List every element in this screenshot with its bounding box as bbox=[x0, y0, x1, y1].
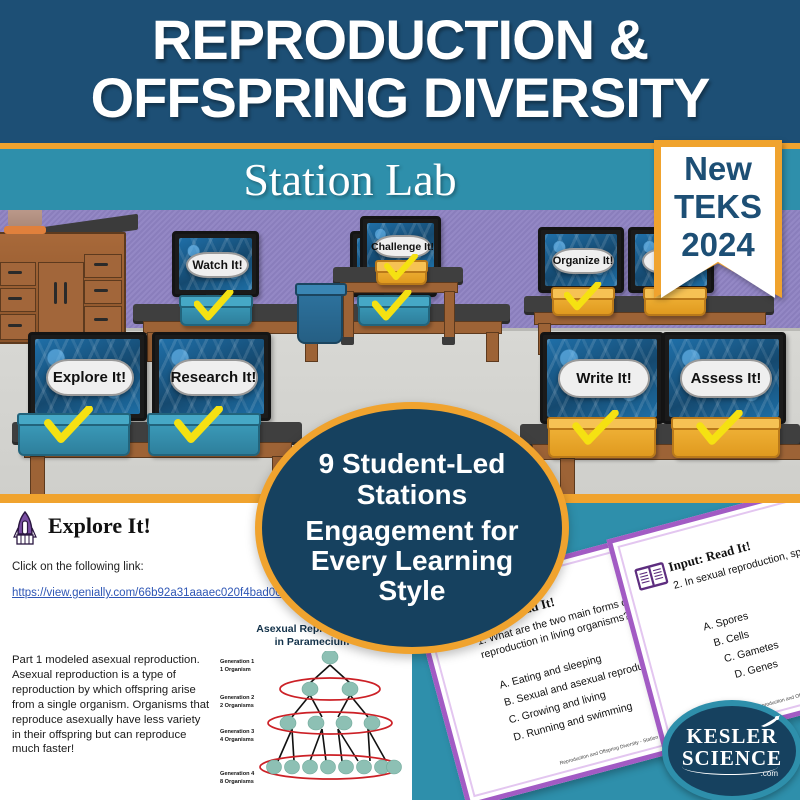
monitor-screen: Assess It! bbox=[669, 339, 779, 417]
station-label-plaque: Explore It! bbox=[46, 359, 134, 396]
kesler-science-logo: KESLER SCIENCE .com bbox=[662, 700, 800, 800]
logo-tld: .com bbox=[761, 769, 778, 778]
station-label-plaque: Assess It! bbox=[680, 359, 772, 397]
station-label: Research It! bbox=[171, 369, 257, 386]
cabinet-handle-5 bbox=[64, 282, 67, 304]
generation-label-4: Generation 4 8 Organisms bbox=[220, 771, 254, 786]
page-title-line1: REPRODUCTION & bbox=[0, 12, 800, 68]
monitor-screen: Write It! bbox=[547, 339, 657, 417]
desk-back-left-leg-3 bbox=[486, 332, 499, 362]
cabinet-drawer-1 bbox=[0, 262, 36, 286]
worksheet-body-text: Part 1 modeled asexual reproduction. Ase… bbox=[12, 653, 212, 757]
worksheet-heading: Explore It! bbox=[48, 513, 151, 539]
check-icon bbox=[384, 254, 418, 284]
trash-can-lip bbox=[295, 283, 347, 296]
station-label: Assess It! bbox=[691, 370, 762, 387]
cabinet-drawer-4 bbox=[84, 254, 122, 278]
ribbon-line3: 2024 bbox=[654, 226, 782, 264]
cabinet bbox=[0, 232, 126, 344]
check-icon bbox=[572, 410, 620, 450]
station-label: Organize It! bbox=[553, 255, 614, 267]
station-label: Write It! bbox=[576, 370, 632, 387]
desk-front-right-leg-1 bbox=[560, 458, 575, 496]
cabinet-drawer-2 bbox=[0, 288, 36, 312]
check-icon bbox=[44, 406, 94, 448]
cabinet-drawer-5 bbox=[84, 280, 122, 304]
book-icon bbox=[634, 561, 669, 592]
genially-link[interactable]: https://view.genially.com/66b92a31aaaec0… bbox=[12, 587, 288, 599]
desk-front-left-leg-1 bbox=[30, 456, 45, 496]
generation-label-3: Generation 3 4 Organisms bbox=[220, 729, 254, 744]
feature-badge: 9 Student-Led Stations Engagement for Ev… bbox=[255, 402, 569, 654]
title-block: REPRODUCTION & OFFSPRING DIVERSITY bbox=[0, 0, 800, 147]
monitor-screen: Organize It! bbox=[545, 234, 617, 286]
cabinet-handle-1 bbox=[8, 271, 22, 274]
monitor-screen: Explore It! bbox=[35, 339, 140, 414]
badge-line-1: 9 Student-Led Stations bbox=[262, 449, 562, 509]
subtitle: Station Lab bbox=[0, 150, 700, 210]
trash-can bbox=[297, 286, 343, 344]
page-title-line2: OFFSPRING DIVERSITY bbox=[0, 70, 800, 126]
check-icon bbox=[696, 410, 744, 450]
cabinet-door-left bbox=[38, 262, 84, 340]
badge-line-2: Engagement for Every Learning Style bbox=[262, 510, 562, 607]
cabinet-handle-8 bbox=[94, 318, 108, 321]
cabinet-handle-7 bbox=[94, 289, 108, 292]
station-monitor-watch-it: Watch It! bbox=[172, 231, 259, 297]
worksheet-instruction: Click on the following link: bbox=[12, 561, 144, 573]
cabinet-handle-4 bbox=[54, 282, 57, 304]
new-teks-ribbon: New TEKS 2024 bbox=[654, 140, 782, 298]
desk-center-foot-2 bbox=[442, 337, 455, 345]
station-label: Challenge It! bbox=[371, 241, 434, 253]
cabinet-handle-3 bbox=[8, 324, 22, 327]
card-footer: Reproduction and Offspring Diversity - S… bbox=[559, 732, 668, 767]
monitor-screen: Research It! bbox=[159, 339, 264, 414]
monitor-screen: Watch It! bbox=[179, 238, 252, 290]
check-icon bbox=[194, 290, 234, 324]
ribbon-line1: New bbox=[654, 150, 782, 188]
check-icon bbox=[372, 290, 412, 324]
station-label-plaque: Watch It! bbox=[186, 252, 248, 279]
station-label-plaque: Organize It! bbox=[552, 248, 614, 275]
desk-center-leg-1 bbox=[343, 291, 354, 341]
station-label-plaque: Research It! bbox=[170, 359, 258, 396]
station-label: Watch It! bbox=[192, 258, 242, 272]
station-label: Explore It! bbox=[53, 369, 126, 386]
ribbon-line2: TEKS bbox=[654, 188, 782, 226]
product-cover: REPRODUCTION & OFFSPRING DIVERSITY Stati… bbox=[0, 0, 800, 800]
rocket-icon bbox=[12, 511, 38, 547]
desk-center-leg-2 bbox=[444, 291, 455, 341]
check-icon bbox=[564, 282, 602, 314]
plant-pot-rim bbox=[4, 226, 46, 234]
generation-label-2: Generation 2 2 Organisms bbox=[220, 695, 254, 710]
desk-center-foot-1 bbox=[341, 337, 354, 345]
generation-label-1: Generation 1 1 Organism bbox=[220, 659, 254, 674]
station-label-plaque: Write It! bbox=[558, 359, 650, 397]
cabinet-handle-6 bbox=[94, 263, 108, 266]
check-icon bbox=[174, 406, 224, 448]
diagram-graph bbox=[258, 651, 402, 799]
cabinet-handle-2 bbox=[8, 297, 22, 300]
